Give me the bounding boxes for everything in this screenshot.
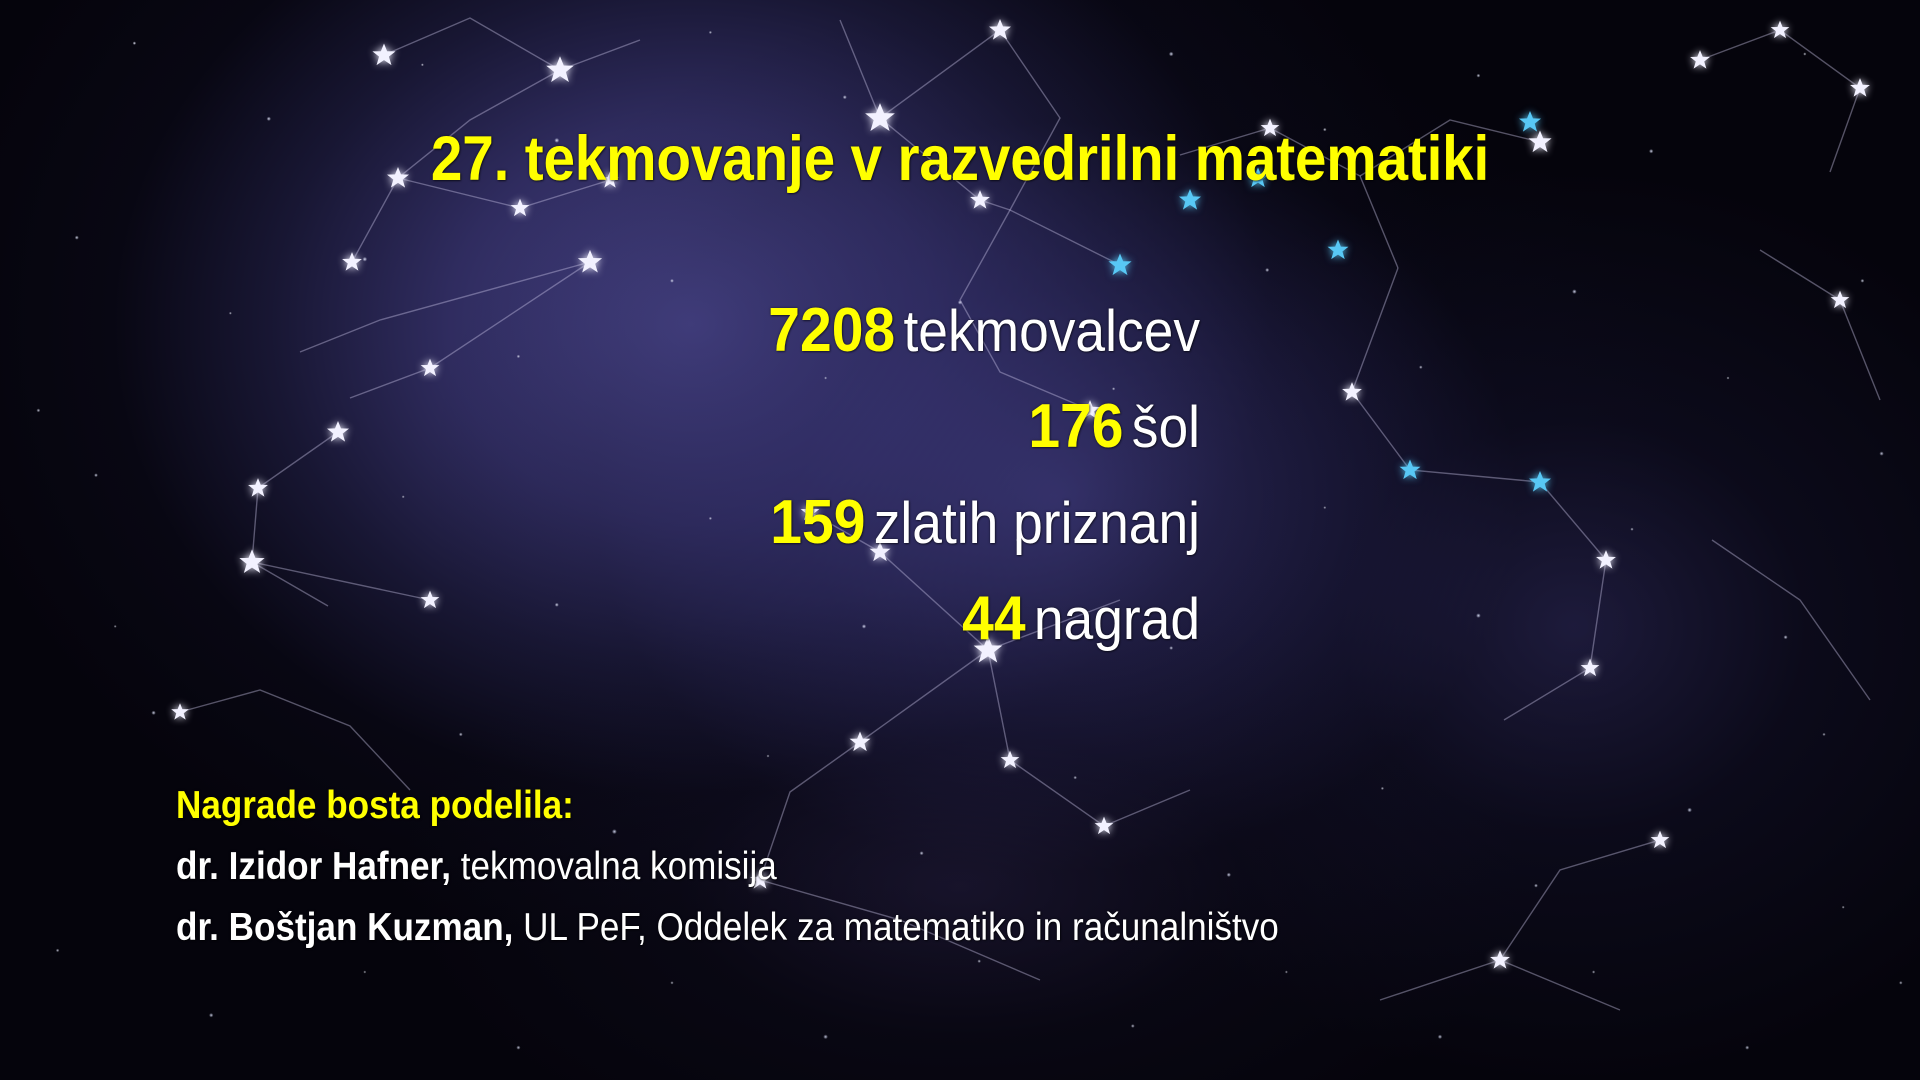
stat-label: nagrad [1034,587,1200,652]
presentation-slide: 27. tekmovanje v razvedrilni matematiki … [0,0,1920,1080]
presenter-row: dr. Boštjan Kuzman, UL PeF, Oddelek za m… [176,908,1279,947]
stat-item-gold-awards: 159zlatih priznanj [96,492,1200,554]
page-title: 27. tekmovanje v razvedrilni matematiki [96,128,1824,191]
footer-heading: Nagrade bosta podelila: [176,784,574,827]
presenter-row: dr. Izidor Hafner, tekmovalna komisija [176,847,1279,886]
stat-label: šol [1132,395,1200,460]
stat-item-schools: 176šol [96,396,1200,458]
stat-item-competitors: 7208tekmovalcev [96,300,1200,362]
presenter-role: tekmovalna komisija [451,845,777,888]
slide-content: 27. tekmovanje v razvedrilni matematiki … [0,0,1920,1080]
stat-label: zlatih priznanj [874,491,1200,556]
presenter-name: dr. Izidor Hafner, [176,845,451,888]
stat-number: 7208 [768,296,895,365]
footer-heading-line: Nagrade bosta podelila: [176,786,1279,825]
stat-number: 176 [1028,392,1123,461]
stat-number: 44 [962,584,1025,653]
stat-number: 159 [770,488,865,557]
stat-item-prizes: 44nagrad [96,588,1200,650]
statistics-list: 7208tekmovalcev 176šol 159zlatih priznan… [0,300,1200,684]
stat-label: tekmovalcev [903,299,1200,364]
presenter-name: dr. Boštjan Kuzman, [176,906,513,949]
awards-presenters-block: Nagrade bosta podelila: dr. Izidor Hafne… [176,786,1401,969]
presenter-role: UL PeF, Oddelek za matematiko in računal… [513,906,1278,949]
